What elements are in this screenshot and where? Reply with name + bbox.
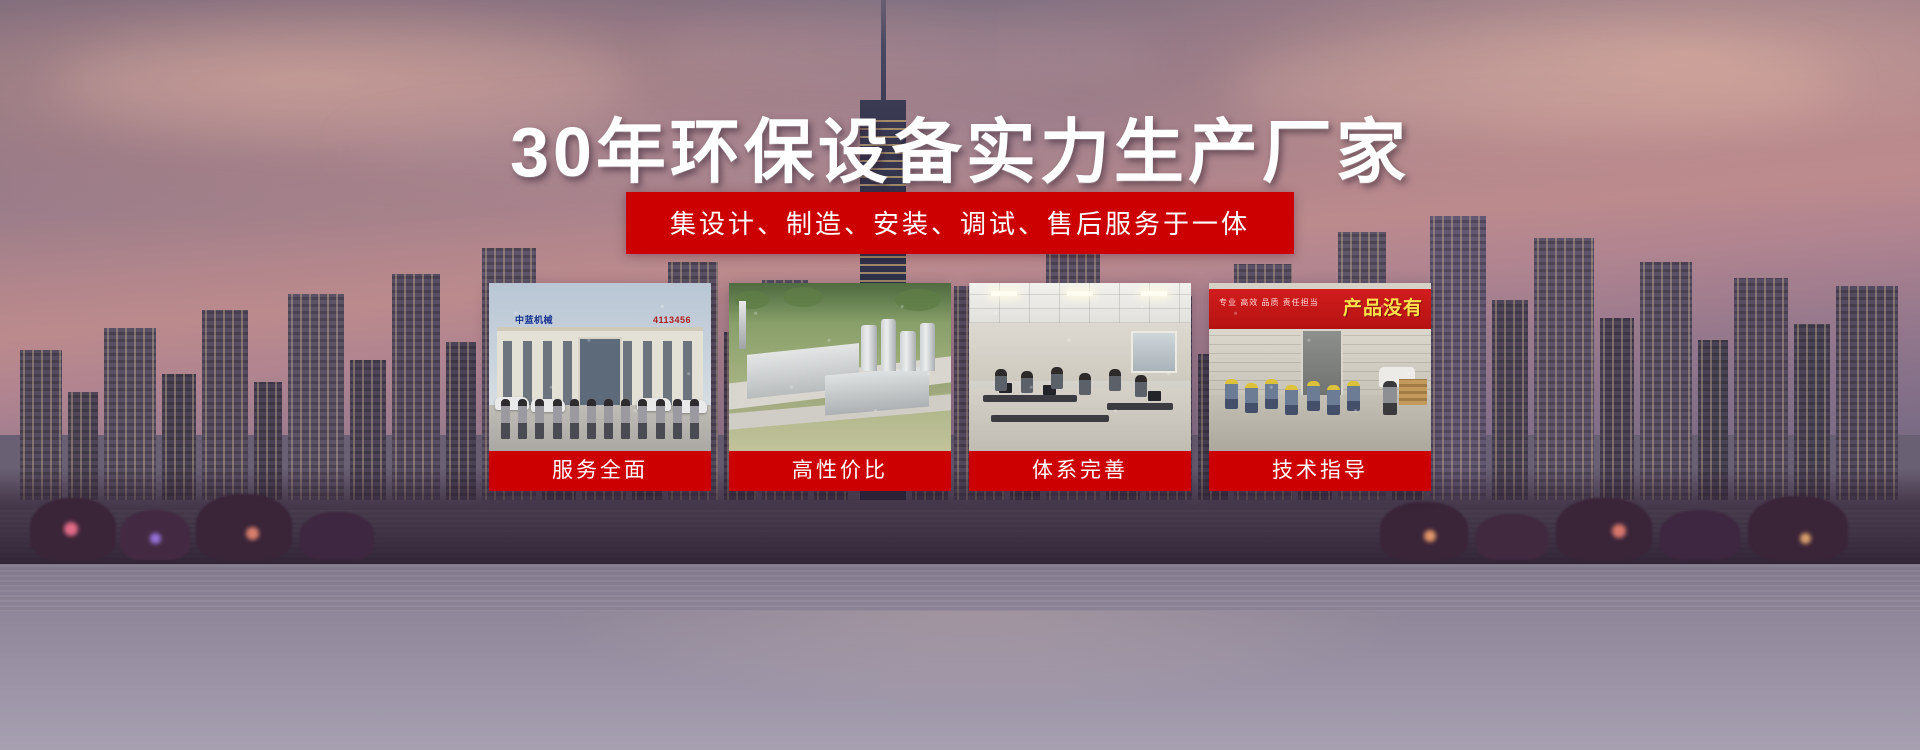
banner-overlay: 30年环保设备实力生产厂家 集设计、制造、安装、调试、售后服务于一体 中蓝机械 …	[0, 0, 1920, 750]
card-photo-office-building: 中蓝机械 4113456	[489, 283, 711, 451]
feature-card-service[interactable]: 中蓝机械 4113456	[489, 283, 711, 491]
card-photo-aerial-plant	[729, 283, 951, 451]
photo-watermark	[729, 283, 951, 451]
feature-card-guidance[interactable]: 专业 高效 品质 责任担当 产品没有	[1209, 283, 1431, 491]
feature-card-value[interactable]: 高性价比	[729, 283, 951, 491]
card-caption: 服务全面	[489, 451, 711, 491]
card-photo-office-interior	[969, 283, 1191, 451]
card-photo-workshop: 专业 高效 品质 责任担当 产品没有	[1209, 283, 1431, 451]
subtitle-badge: 集设计、制造、安装、调试、售后服务于一体	[626, 192, 1294, 254]
feature-card-system[interactable]: 体系完善	[969, 283, 1191, 491]
hero-banner: 30年环保设备实力生产厂家 集设计、制造、安装、调试、售后服务于一体 中蓝机械 …	[0, 0, 1920, 750]
page-title: 30年环保设备实力生产厂家	[0, 96, 1920, 197]
subtitle-row: 集设计、制造、安装、调试、售后服务于一体	[0, 192, 1920, 254]
photo-watermark	[1209, 283, 1431, 451]
photo-watermark	[489, 283, 711, 451]
photo-watermark	[969, 283, 1191, 451]
card-caption: 高性价比	[729, 451, 951, 491]
feature-card-list: 中蓝机械 4113456	[0, 283, 1920, 491]
card-caption: 体系完善	[969, 451, 1191, 491]
card-caption: 技术指导	[1209, 451, 1431, 491]
